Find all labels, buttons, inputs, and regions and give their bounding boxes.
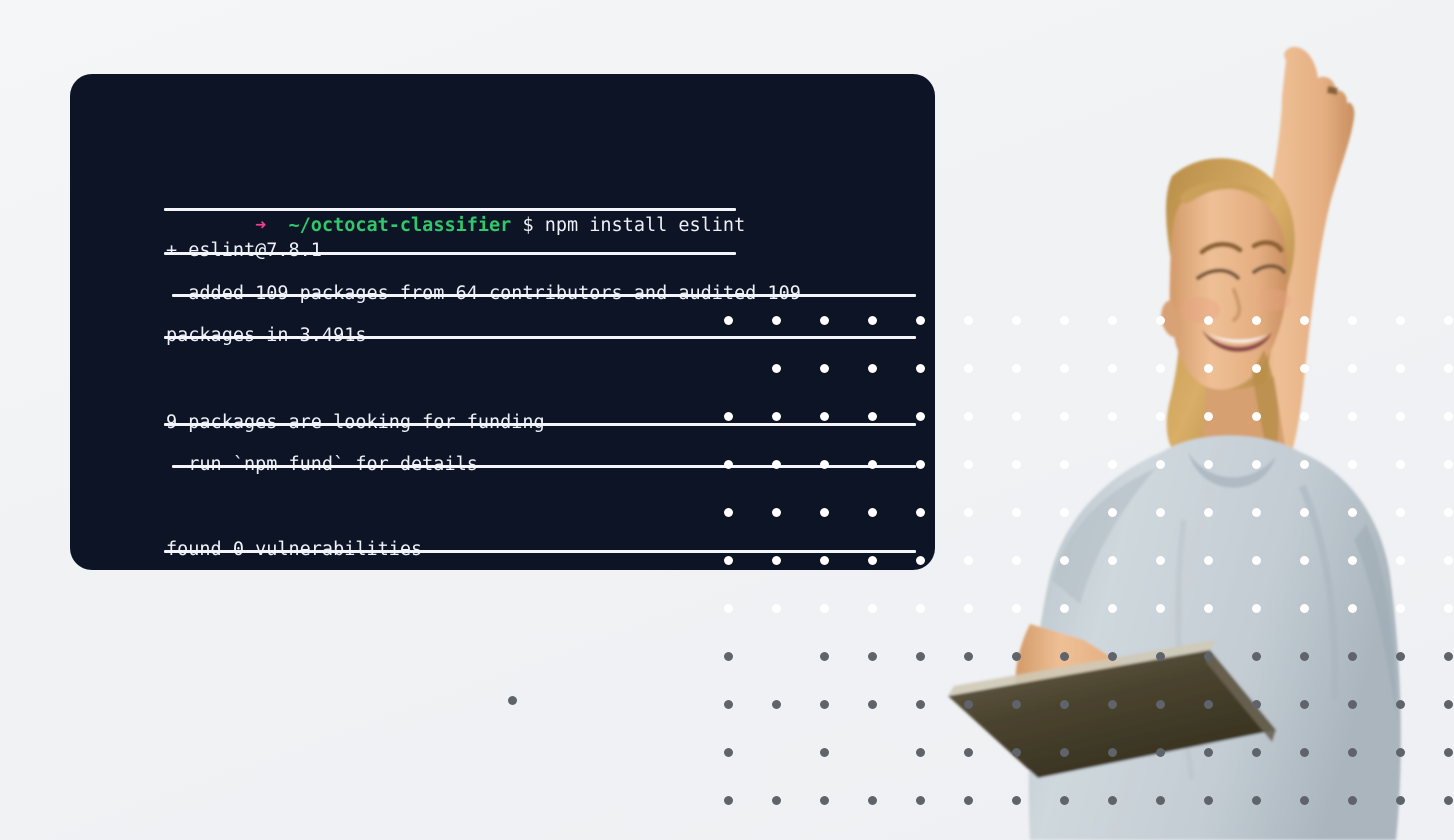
prompt-path-label-1: ~/octocat-classifier xyxy=(289,215,512,236)
strike-rule-6 xyxy=(172,465,916,468)
terminal-command-1: npm install eslint xyxy=(545,215,745,236)
prompt-path-1 xyxy=(266,215,288,236)
prompt-dollar-1: $ xyxy=(522,215,533,236)
screenshot-canvas: ➜ ~/octocat-classifier $ npm install esl… xyxy=(0,0,1454,840)
terminal-window[interactable]: ➜ ~/octocat-classifier $ npm install esl… xyxy=(70,74,935,570)
prompt-space-1b xyxy=(534,215,545,236)
prompt-space-1 xyxy=(511,215,522,236)
strike-rule-1 xyxy=(164,208,736,211)
strike-rule-3 xyxy=(172,294,916,297)
terminal-body: ➜ ~/octocat-classifier $ npm install esl… xyxy=(70,74,935,570)
strike-rule-4 xyxy=(164,336,916,339)
celebrating-woman-illustration xyxy=(934,0,1454,840)
prompt-arrow-icon: ➜ xyxy=(255,215,266,236)
strike-rule-5 xyxy=(164,423,916,426)
strike-rule-2 xyxy=(164,252,736,255)
hero-photo xyxy=(934,0,1454,840)
strike-rule-7 xyxy=(164,550,916,553)
